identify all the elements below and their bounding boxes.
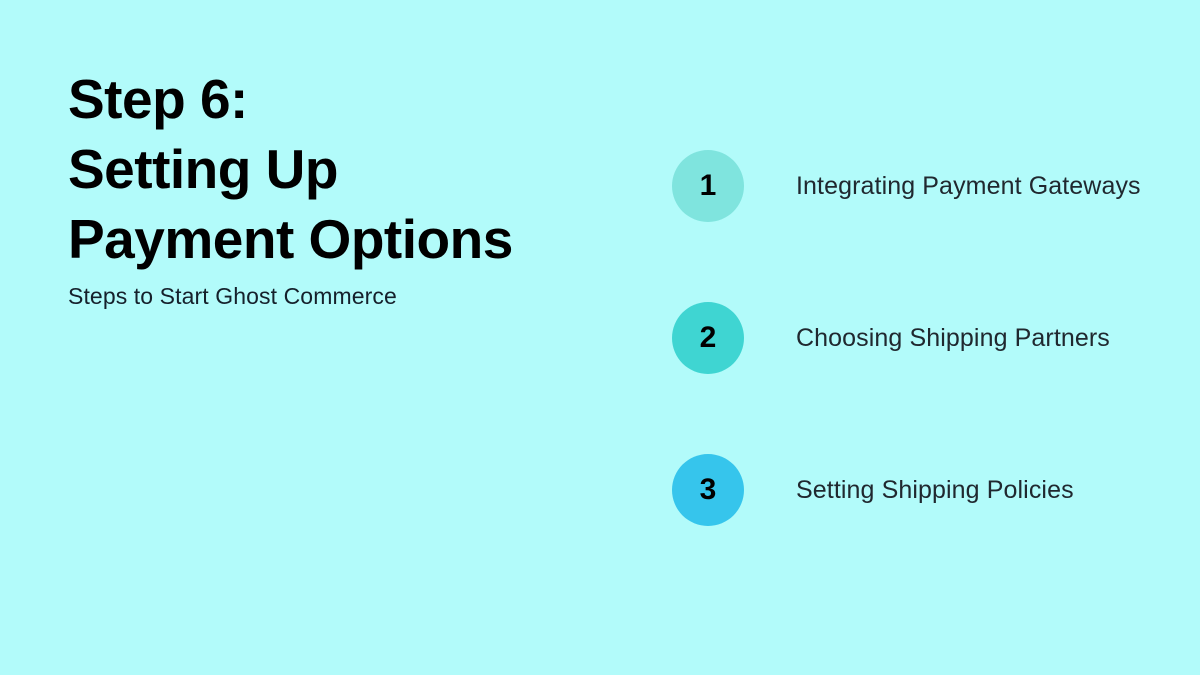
list-item: 3 Setting Shipping Policies — [672, 454, 1142, 526]
slide-canvas: Step 6: Setting Up Payment Options Steps… — [0, 0, 1200, 675]
step-number-badge-3: 3 — [672, 454, 744, 526]
list-item: 1 Integrating Payment Gateways — [672, 150, 1142, 222]
headline-line-1: Step 6: — [68, 64, 628, 134]
step-label-2: Choosing Shipping Partners — [744, 322, 1142, 355]
headline-line-2: Setting Up — [68, 134, 628, 204]
steps-list: 1 Integrating Payment Gateways 2 Choosin… — [672, 150, 1142, 526]
headline-line-3: Payment Options — [68, 204, 628, 274]
list-item: 2 Choosing Shipping Partners — [672, 302, 1142, 374]
step-number-2: 2 — [700, 323, 717, 353]
step-number-badge-2: 2 — [672, 302, 744, 374]
step-label-3: Setting Shipping Policies — [744, 474, 1142, 507]
page-subtitle: Steps to Start Ghost Commerce — [68, 274, 628, 311]
step-label-1: Integrating Payment Gateways — [744, 170, 1142, 203]
step-number-badge-1: 1 — [672, 150, 744, 222]
page-title: Step 6: Setting Up Payment Options — [68, 64, 628, 274]
step-number-1: 1 — [700, 171, 717, 201]
step-number-3: 3 — [700, 475, 717, 505]
title-block: Step 6: Setting Up Payment Options Steps… — [68, 64, 628, 311]
